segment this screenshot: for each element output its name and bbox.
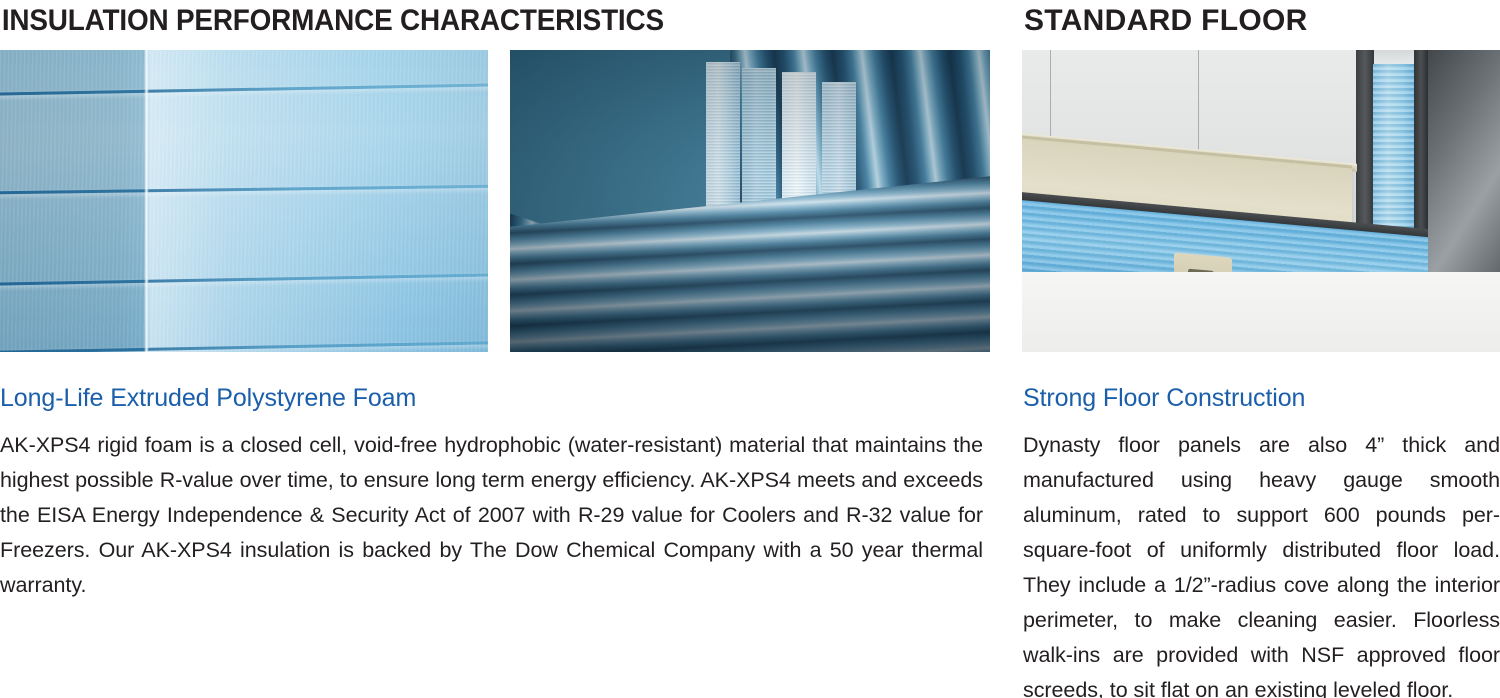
cooler-floor-illustration [1022, 50, 1500, 352]
standard-floor-image-strip [1022, 50, 1500, 352]
foam-grain-texture [0, 50, 488, 352]
insulation-section-title: INSULATION PERFORMANCE CHARACTERISTICS [0, 0, 921, 36]
foam-stack-illustration [0, 50, 488, 352]
insulation-image-strip [0, 50, 990, 352]
corrugated-deck-illustration [510, 50, 990, 352]
photo-vignette-overlay [510, 50, 990, 352]
standard-floor-sub-heading: Strong Floor Construction [1023, 386, 1305, 411]
standard-floor-body-text: Dynasty floor panels are also 4” thick a… [1023, 428, 1500, 698]
existing-room-floor [1022, 272, 1500, 352]
insulation-column: INSULATION PERFORMANCE CHARACTERISTICS [0, 0, 990, 698]
product-spec-page: INSULATION PERFORMANCE CHARACTERISTICS [0, 0, 1500, 698]
xps-foam-boards-stack-photo [0, 50, 488, 352]
standard-floor-section-title: STANDARD FLOOR [1022, 0, 1500, 36]
standard-floor-column: STANDARD FLOOR [1022, 0, 1500, 698]
xps-foam-sheets-on-corrugated-steel-photo [510, 50, 990, 352]
walk-in-cooler-floor-panel-photo [1022, 50, 1500, 352]
insulation-body-text: AK-XPS4 rigid foam is a closed cell, voi… [0, 428, 983, 603]
foam-corner-highlight [144, 50, 149, 352]
insulation-sub-heading: Long-Life Extruded Polystyrene Foam [0, 386, 416, 411]
